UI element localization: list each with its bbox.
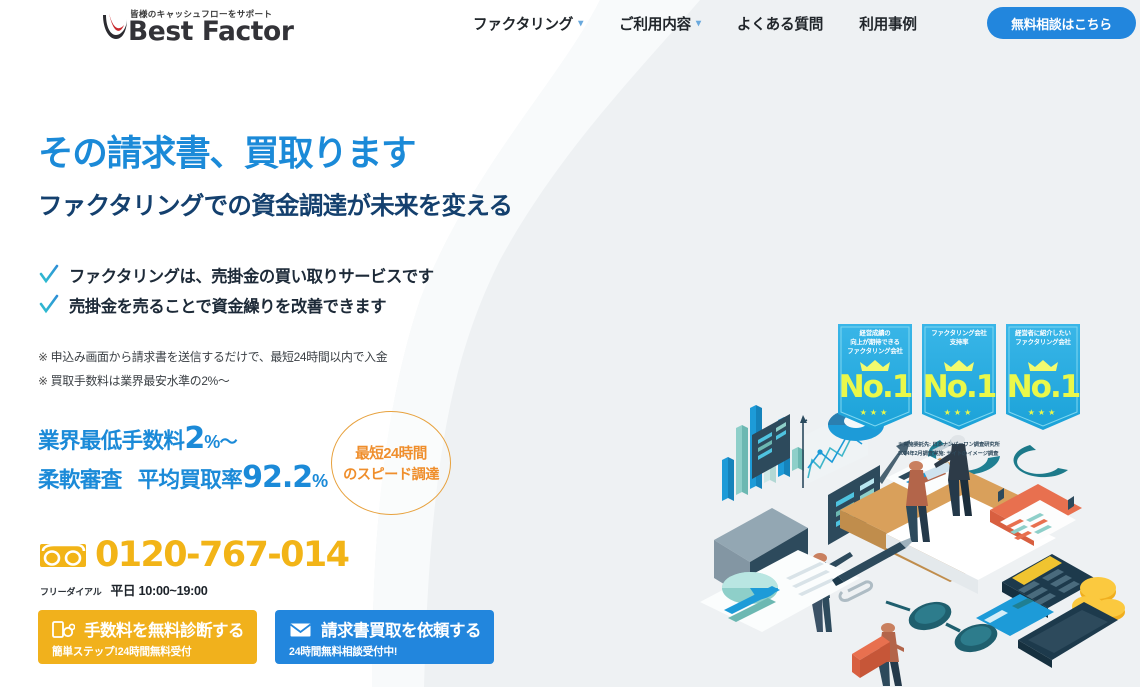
badge-rank: No.1 — [920, 372, 998, 403]
invoice-purchase-request-button[interactable]: 請求書買取を依頼する 24時間無料相談受付中! — [275, 610, 494, 664]
cta-label: 請求書買取を依頼する — [321, 617, 481, 641]
bullet-text: 売掛金を売ることで資金繰りを改善できます — [69, 293, 386, 317]
note-line: ※買取手数料は業界最安水準の2%〜 — [38, 370, 558, 393]
badge-stars: ★★★ — [1004, 408, 1082, 417]
bullet-text: ファクタリングは、売掛金の買い取りサービスです — [69, 263, 434, 287]
badge-stars: ★★★ — [920, 408, 998, 417]
stat-value: 2 — [184, 421, 204, 456]
envelope-icon — [289, 621, 312, 638]
stat-unit: % — [312, 471, 327, 492]
phone-number: 0120-767-014 — [95, 538, 348, 573]
nav-label: ファクタリング — [473, 13, 573, 34]
badge-stars: ★★★ — [836, 408, 914, 417]
stat-label: 業界最低手数料 — [38, 424, 184, 455]
ranking-badges: 経営成績の向上が期待できるファクタリング会社 No.1 ★★★ ファクタリング会… — [836, 322, 1092, 440]
cta-label: 手数料を無料診断する — [84, 617, 244, 641]
cta-main-row: 手数料を無料診断する — [52, 617, 257, 641]
document-coin-icon — [52, 621, 75, 638]
phone-subtext: フリーダイアル 平日 10:00~19:00 — [40, 580, 348, 599]
logo-name: Best Factor — [128, 16, 294, 47]
site-header: 皆様のキャッシュフローをサポート Best Factor ファクタリング ▾ ご… — [0, 0, 1140, 47]
main-nav: ファクタリング ▾ ご利用内容 ▾ よくある質問 利用事例 — [455, 0, 935, 47]
badge-description: ファクタリング会社支持率 — [920, 329, 998, 347]
nav-item-cases[interactable]: 利用事例 — [841, 0, 935, 47]
list-item: ファクタリングは、売掛金の買い取りサービスです — [38, 260, 558, 290]
feature-bullets: ファクタリングは、売掛金の買い取りサービスです 売掛金を売ることで資金繰りを改善… — [38, 260, 558, 320]
stat-unit: %〜 — [204, 428, 237, 454]
freedial-label: フリーダイアル — [40, 585, 102, 598]
phone-row[interactable]: 0120-767-014 — [40, 538, 348, 573]
stat-label-a: 柔軟審査 — [38, 463, 122, 494]
contact-block: 0120-767-014 フリーダイアル 平日 10:00~19:00 — [40, 538, 348, 599]
pen — [832, 538, 912, 586]
key-stats: 業界最低手数料 2 %〜 柔軟審査 平均買取率 92.2 % — [38, 421, 558, 495]
nav-item-factoring[interactable]: ファクタリング ▾ — [455, 0, 601, 47]
hero-copy: その請求書、買取ります ファクタリングでの資金調達が未来を変える ファクタリング… — [38, 132, 558, 495]
cta-sublabel: 24時間無料相談受付中! — [289, 644, 494, 659]
badge-description: 経営者に紹介したいファクタリング会社 — [1004, 329, 1082, 347]
cta-sublabel: 簡単ステップ!24時間無料受付 — [52, 644, 257, 659]
asterisk-marker: ※ — [38, 350, 48, 364]
landing-page: 皆様のキャッシュフローをサポート Best Factor ファクタリング ▾ ご… — [0, 0, 1140, 687]
badge-rank: No.1 — [1004, 372, 1082, 403]
list-item: 売掛金を売ることで資金繰りを改善できます — [38, 290, 558, 320]
ranking-badge: ファクタリング会社支持率 No.1 ★★★ — [920, 322, 998, 432]
briefcase-person — [852, 623, 904, 686]
nav-label: 利用事例 — [859, 13, 917, 34]
business-hours: 平日 10:00~19:00 — [111, 580, 208, 599]
header-consult-button[interactable]: 無料相談はこちら — [987, 7, 1136, 39]
page-title: その請求書、買取ります — [38, 132, 558, 175]
note-line: ※申込み画面から請求書を送信するだけで、最短24時間以内で入金 — [38, 346, 558, 369]
free-diagnosis-button[interactable]: 手数料を無料診断する 簡単ステップ!24時間無料受付 — [38, 610, 257, 664]
stat-lowest-fee: 業界最低手数料 2 %〜 — [38, 421, 558, 456]
survey-disclaimer: ※実施委託先: 日本ナンバーワン調査研究所2024年2月調査実施: サイトのイメ… — [898, 441, 1000, 459]
chevron-down-icon: ▾ — [696, 19, 701, 29]
stat-value: 92.2 — [242, 460, 312, 495]
stat-label-b: 平均買取率 — [138, 463, 243, 494]
cta-main-row: 請求書買取を依頼する — [289, 617, 494, 641]
nav-item-usage[interactable]: ご利用内容 ▾ — [601, 0, 719, 47]
note-text: 申込み画面から請求書を送信するだけで、最短24時間以内で入金 — [51, 350, 388, 364]
asterisk-marker: ※ — [38, 374, 48, 388]
note-text: 買取手数料は業界最安水準の2%〜 — [51, 374, 230, 388]
speed-badge: 最短24時間 のスピード調達 — [331, 411, 451, 515]
logo[interactable]: 皆様のキャッシュフローをサポート Best Factor — [52, 4, 292, 44]
check-icon — [38, 294, 60, 316]
checkmark-swoosh-logo-icon — [100, 11, 130, 43]
stat-purchase-rate: 柔軟審査 平均買取率 92.2 % — [38, 460, 558, 495]
ranking-badge: 経営成績の向上が期待できるファクタリング会社 No.1 ★★★ — [836, 322, 914, 432]
nav-label: ご利用内容 — [619, 13, 691, 34]
badge-rank: No.1 — [836, 372, 914, 403]
speed-badge-line2: のスピード調達 — [343, 464, 439, 484]
freedial-phone-icon — [40, 542, 86, 569]
ranking-badge: 経営者に紹介したいファクタリング会社 No.1 ★★★ — [1004, 322, 1082, 432]
chevron-down-icon: ▾ — [578, 19, 583, 29]
badge-description: 経営成績の向上が期待できるファクタリング会社 — [836, 329, 914, 356]
nav-label: よくある質問 — [737, 13, 823, 34]
disclaimer-notes: ※申込み画面から請求書を送信するだけで、最短24時間以内で入金 ※買取手数料は業… — [38, 346, 558, 392]
page-subtitle: ファクタリングでの資金調達が未来を変える — [38, 187, 558, 222]
check-icon — [38, 264, 60, 286]
cta-button-group: 手数料を無料診断する 簡単ステップ!24時間無料受付 請求書買取を依頼する 24… — [38, 610, 494, 664]
speed-badge-line1: 最短24時間 — [355, 442, 427, 463]
nav-item-faq[interactable]: よくある質問 — [719, 0, 841, 47]
